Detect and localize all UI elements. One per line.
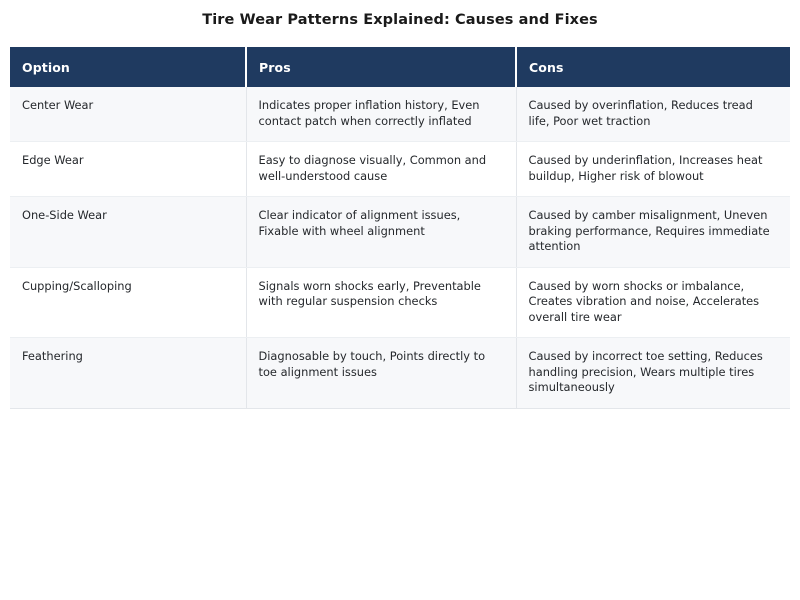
table-header-row: Option Pros Cons — [10, 47, 790, 87]
cell-pros: Indicates proper inflation history, Even… — [246, 87, 516, 142]
cell-option: Cupping/Scalloping — [10, 267, 246, 338]
cell-cons: Caused by worn shocks or imbalance, Crea… — [516, 267, 790, 338]
cell-cons: Caused by overinflation, Reduces tread l… — [516, 87, 790, 142]
cell-pros: Easy to diagnose visually, Common and we… — [246, 142, 516, 197]
cell-option: Center Wear — [10, 87, 246, 142]
page-root: Tire Wear Patterns Explained: Causes and… — [0, 0, 800, 600]
table-body: Center Wear Indicates proper inflation h… — [10, 87, 790, 408]
column-header-option: Option — [10, 47, 246, 87]
column-header-pros: Pros — [246, 47, 516, 87]
table-row: Edge Wear Easy to diagnose visually, Com… — [10, 142, 790, 197]
cell-pros: Signals worn shocks early, Preventable w… — [246, 267, 516, 338]
comparison-table-container: Option Pros Cons Center Wear Indicates p… — [10, 47, 790, 409]
cell-option: Feathering — [10, 338, 246, 409]
table-row: One-Side Wear Clear indicator of alignme… — [10, 197, 790, 268]
column-header-cons: Cons — [516, 47, 790, 87]
page-title: Tire Wear Patterns Explained: Causes and… — [0, 11, 800, 29]
cell-option: One-Side Wear — [10, 197, 246, 268]
cell-cons: Caused by underinflation, Increases heat… — [516, 142, 790, 197]
cell-cons: Caused by camber misalignment, Uneven br… — [516, 197, 790, 268]
table-row: Center Wear Indicates proper inflation h… — [10, 87, 790, 142]
table-header: Option Pros Cons — [10, 47, 790, 87]
cell-pros: Diagnosable by touch, Points directly to… — [246, 338, 516, 409]
cell-pros: Clear indicator of alignment issues, Fix… — [246, 197, 516, 268]
table-row: Cupping/Scalloping Signals worn shocks e… — [10, 267, 790, 338]
cell-option: Edge Wear — [10, 142, 246, 197]
cell-cons: Caused by incorrect toe setting, Reduces… — [516, 338, 790, 409]
table-row: Feathering Diagnosable by touch, Points … — [10, 338, 790, 409]
comparison-table: Option Pros Cons Center Wear Indicates p… — [10, 47, 790, 409]
